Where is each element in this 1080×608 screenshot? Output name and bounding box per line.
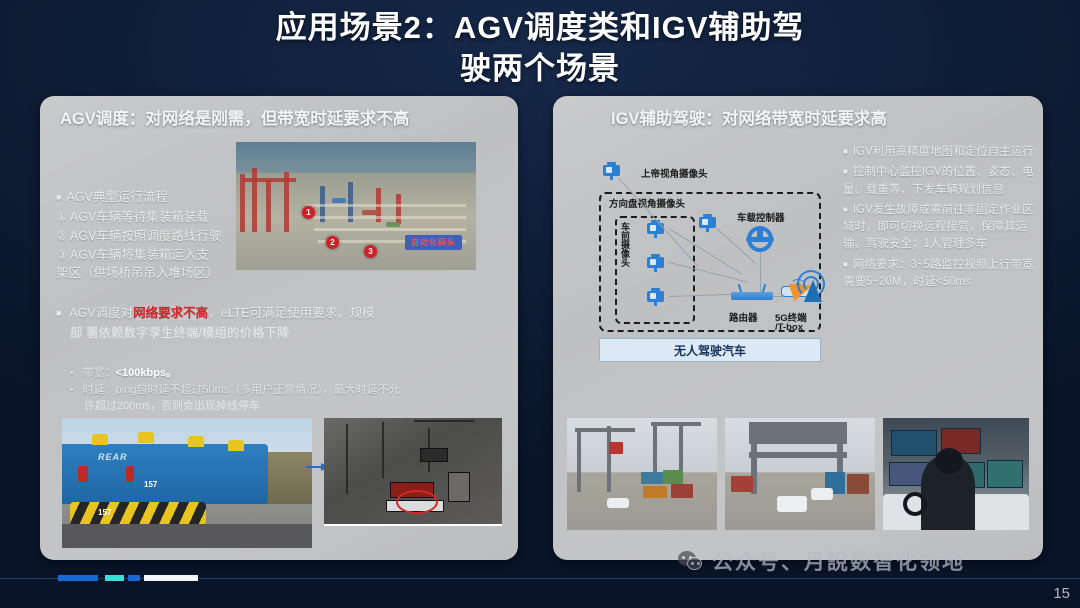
left-panel: AGV调度：对网络是刚需，但带宽时延要求不高 1 2 3 自动化码头 — [40, 96, 518, 560]
agv-bumper-stripes — [70, 502, 206, 526]
decorative-bar — [58, 575, 198, 581]
left-bullet-group-1: AGV典型运行流程 ① AGV车辆等待集装箱装载 ② AGV车辆按照调度路线行驶… — [56, 188, 262, 283]
sub-value-latency: ping包时延不超过50ms（多用户正常情况），最大时延不允 — [116, 384, 400, 396]
label-wheel-view-camera: 方向盘视角摄像头 — [609, 196, 685, 210]
cabinet-photo-white-strip — [324, 524, 502, 526]
sub-item-bandwidth: 带宽：<100kbps。 — [70, 366, 510, 382]
watermark-text: 公众号、月說数智化领地 — [712, 546, 965, 576]
title-line-1: 应用场景2：AGV调度类和IGV辅助驾 — [276, 10, 805, 45]
label-router: 路由器 — [729, 310, 758, 324]
agv-cab — [62, 444, 268, 504]
sub-label-latency: 时延： — [83, 384, 116, 396]
left-panel-title: AGV调度：对网络是刚需，但带宽时延要求不高 — [60, 108, 500, 131]
bullet-2-pre: AGV调度对 — [69, 306, 133, 320]
bullet-2-post: ，eLTE可满足使用要求，规模 — [208, 306, 374, 320]
sub-item-latency: 时延：ping包时延不超过50ms（多用户正常情况），最大时延不允 — [70, 383, 510, 399]
label-tbox-line-2: /T-box — [775, 322, 803, 333]
agv-number-bumper: 157 — [98, 508, 111, 517]
page-number: 15 — [1053, 585, 1070, 602]
bullet-2-continuation: 部 署依赖数字孪生终端/模组的价格下降 — [56, 324, 504, 343]
left-bullet-group-2: AGV调度对网络要求不高，eLTE可满足使用要求，规模 部 署依赖数字孪生终端/… — [56, 304, 504, 343]
numbered-continuation: 架区（供场桥吊吊入堆场区） — [56, 264, 262, 283]
bullet-2-highlight: 网络要求不高 — [133, 306, 208, 320]
sub-label-bandwidth: 带宽： — [83, 367, 116, 379]
cabinet-highlight-circle — [396, 490, 438, 514]
cell-tower-icon — [799, 264, 829, 304]
aerial-port-photo: 1 2 3 自动化码头 — [236, 142, 476, 270]
left-bullet-1: AGV典型运行流程 — [56, 188, 262, 206]
igv-under-crane-photo — [725, 418, 875, 530]
numbered-marker-2: ② — [56, 229, 67, 243]
right-bullet-4: 网络要求：3~5路监控视频上行带宽需要5~20M，时延<50ms — [843, 257, 1035, 292]
remote-control-room-photo — [883, 418, 1029, 530]
sub-item-latency-continuation: 许超过200ms，否则会出现掉线停车 — [70, 399, 510, 415]
right-bullet-3: IGV发生故障或需前往非固定作业区域时，即可切换远程接管，保障其运输、驾驶安全；… — [843, 202, 1035, 254]
title-line-2: 驶两个场景 — [0, 49, 1080, 90]
sub-value-bandwidth: <100kbps。 — [116, 367, 177, 379]
agv-vehicle-photo: REAR 157 157 — [62, 418, 312, 548]
igv-architecture-diagram: 上帝视角摄像头 方向盘视角摄像头 车前摄像头 车载控制器 — [579, 152, 831, 368]
page-title: 应用场景2：AGV调度类和IGV辅助驾 驶两个场景 — [0, 8, 1080, 90]
left-bullet-2: AGV调度对网络要求不高，eLTE可满足使用要求，规模 — [56, 304, 504, 322]
aerial-marker-2: 2 — [326, 236, 339, 249]
right-bullet-1: IGV利用高精度地图和定位自主运行 — [843, 144, 1035, 161]
label-onboard-controller: 车载控制器 — [737, 210, 785, 224]
right-panel-title: IGV辅助驾驶：对网络带宽时延要求高 — [611, 108, 1031, 131]
left-sub-list: 带宽：<100kbps。 时延：ping包时延不超过50ms（多用户正常情况），… — [70, 366, 510, 415]
wechat-icon — [678, 551, 704, 571]
numbered-text-3: AGV车辆将集装箱运入支 — [70, 248, 209, 262]
router-icon — [731, 286, 773, 300]
right-bullet-2: 控制中心监控IGV的位置、姿态、电量、载重等，下发车辆规划信息 — [843, 164, 1035, 199]
watermark: 公众号、月說数智化领地 — [678, 546, 965, 576]
numbered-item-3: ③ AGV车辆将集装箱运入支 — [56, 246, 262, 265]
numbered-text-1: AGV车辆等待集装箱装载 — [70, 210, 209, 224]
numbered-text-2: AGV车辆按照调度路线行驶 — [70, 229, 221, 243]
autonomous-vehicle-label: 无人驾驶汽车 — [599, 338, 821, 362]
equipment-cabinet-photo — [324, 418, 502, 526]
numbered-item-2: ② AGV车辆按照调度路线行驶 — [56, 227, 262, 246]
aerial-photo-tag: 自动化码头 — [405, 235, 462, 250]
agv-number-side: 157 — [144, 480, 157, 489]
aerial-marker-3: 3 — [364, 245, 377, 258]
front-camera-icon-3 — [647, 290, 669, 304]
numbered-item-1: ① AGV车辆等待集装箱装载 — [56, 208, 262, 227]
label-front-camera: 车前摄像头 — [619, 222, 632, 267]
slide-root: 应用场景2：AGV调度类和IGV辅助驾 驶两个场景 AGV调度：对网络是刚需，但… — [0, 0, 1080, 608]
numbered-marker-1: ① — [56, 210, 67, 224]
photo-ground — [236, 173, 476, 270]
numbered-marker-3: ③ — [56, 248, 67, 262]
label-god-view-camera: 上帝视角摄像头 — [641, 166, 708, 180]
god-view-camera-icon — [603, 164, 625, 178]
photo-sky — [236, 142, 476, 175]
steering-wheel-icon — [747, 226, 773, 252]
port-crane-photo — [567, 418, 717, 530]
front-camera-icon-2 — [647, 256, 669, 270]
aerial-marker-1: 1 — [302, 206, 315, 219]
right-bullet-group: IGV利用高精度地图和定位自主运行 控制中心监控IGV的位置、姿态、电量、载重等… — [843, 144, 1035, 294]
right-panel: IGV辅助驾驶：对网络带宽时延要求高 IGV利用高精度地图和定位自主运行 控制中… — [553, 96, 1043, 560]
agv-rear-label: REAR — [98, 452, 128, 462]
